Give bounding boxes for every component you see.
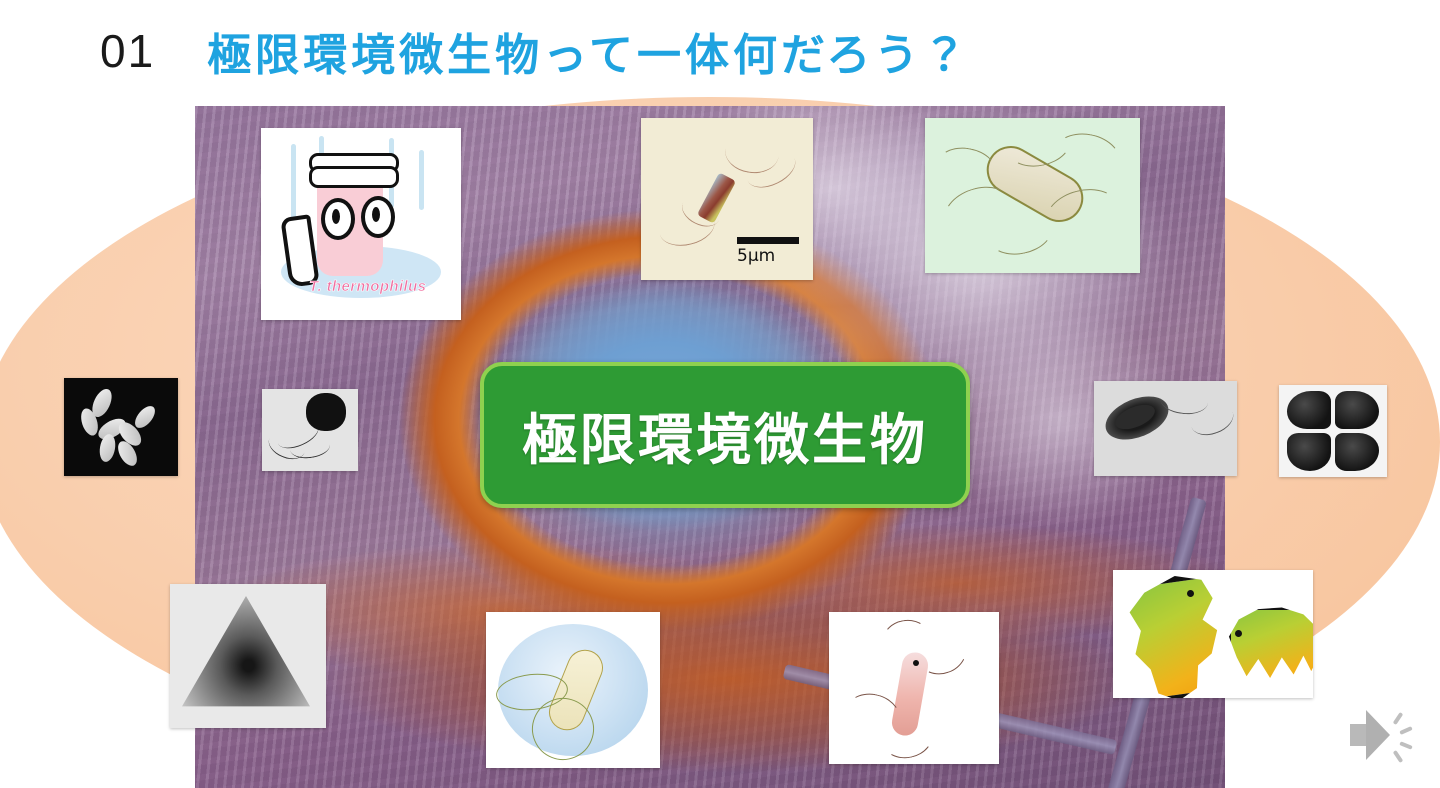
tile-green-bacterium-illustration: [925, 118, 1140, 273]
cell-eye: [913, 660, 919, 666]
tile-micrograph-scalebar: 5μm: [641, 118, 813, 280]
tardigrade-eye: [1187, 590, 1194, 597]
tardigrade-eye: [1235, 630, 1242, 637]
mascot-cap-bottom: [309, 166, 399, 188]
page-title: 極限環境微生物って一体何だろう？: [207, 19, 970, 83]
tardigrade-large: [1117, 570, 1241, 698]
center-callout-label: 極限環境微生物: [522, 395, 928, 475]
cell-quadrant: [1287, 433, 1331, 471]
center-callout[interactable]: 極限環境微生物: [480, 362, 970, 508]
scale-bar: [737, 237, 799, 244]
mascot-eye-left: [321, 198, 355, 240]
mascot-pupil: [332, 209, 340, 224]
slide-header: 01 極限環境微生物って一体何だろう？: [0, 12, 1440, 90]
triangular-cell: [182, 596, 310, 716]
tile-caption: T. thermophilus: [309, 278, 459, 295]
slide-number: 01: [100, 24, 155, 78]
speaker-cone: [1366, 710, 1390, 760]
tile-t-thermophilus-mascot: T. thermophilus: [261, 128, 461, 320]
sound-wave: [1393, 750, 1404, 763]
tile-blue-circle-rod-illustration: [486, 612, 660, 768]
sound-wave: [1399, 726, 1413, 735]
tile-tetrad-micrograph: [1279, 385, 1387, 477]
steam-wisp-icon: [291, 144, 296, 220]
sound-wave: [1393, 712, 1404, 725]
tile-tardigrade-illustration: [1113, 570, 1313, 698]
tardigrade-small: [1225, 604, 1313, 690]
scale-label: 5μm: [737, 246, 775, 266]
cell-quadrant: [1287, 391, 1331, 429]
mascot-pupil: [372, 207, 380, 222]
cell-quadrant: [1335, 433, 1379, 471]
sound-wave: [1399, 741, 1413, 750]
tile-flagellated-cell-micrograph: [262, 389, 358, 471]
speaker-icon[interactable]: [1348, 706, 1422, 768]
cell-quadrant: [1335, 391, 1379, 429]
mascot-eye-right: [361, 196, 395, 238]
tile-sem-rod-cluster: [64, 378, 178, 476]
slide-canvas: 01 極限環境微生物って一体何だろう？ T. thermophilus: [0, 0, 1440, 788]
steam-wisp-icon: [419, 150, 424, 210]
tile-pink-spirillum-illustration: [829, 612, 999, 764]
tile-tem-rod-flagellum: [1094, 381, 1237, 476]
tile-triangular-archaeon-micrograph: [170, 584, 326, 728]
